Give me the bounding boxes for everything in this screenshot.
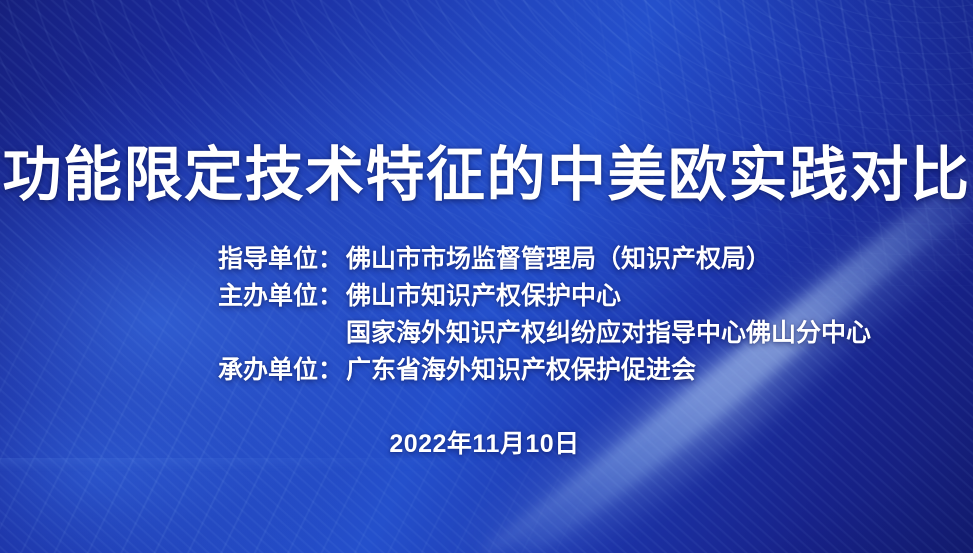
organizer-row: 指导单位： 佛山市市场监督管理局（知识产权局） [218, 241, 871, 278]
organizer-label: 承办单位： [218, 352, 346, 389]
organizer-value: 广东省海外知识产权保护促进会 [346, 352, 696, 389]
organizer-row: 主办单位： 佛山市知识产权保护中心 [218, 278, 871, 315]
organizer-label: 主办单位： [218, 278, 346, 315]
slide-content: 功能限定技术特征的中美欧实践对比 指导单位： 佛山市市场监督管理局（知识产权局）… [0, 0, 973, 553]
organizer-label: 指导单位： [218, 241, 346, 278]
slide-title: 功能限定技术特征的中美欧实践对比 [0, 144, 973, 208]
organizer-value: 佛山市市场监督管理局（知识产权局） [346, 241, 771, 278]
event-date: 2022年11月10日 [0, 424, 973, 460]
presentation-title-slide: 功能限定技术特征的中美欧实践对比 指导单位： 佛山市市场监督管理局（知识产权局）… [0, 0, 973, 553]
event-date-text: 2022年11月10日 [389, 430, 579, 458]
organizer-row: 国家海外知识产权纠纷应对指导中心佛山分中心 [218, 315, 871, 352]
organizer-row: 承办单位： 广东省海外知识产权保护促进会 [218, 352, 871, 389]
organizer-value: 佛山市知识产权保护中心 [346, 278, 621, 315]
organizer-value: 国家海外知识产权纠纷应对指导中心佛山分中心 [346, 315, 871, 352]
organizer-list: 指导单位： 佛山市市场监督管理局（知识产权局） 主办单位： 佛山市知识产权保护中… [218, 241, 871, 389]
